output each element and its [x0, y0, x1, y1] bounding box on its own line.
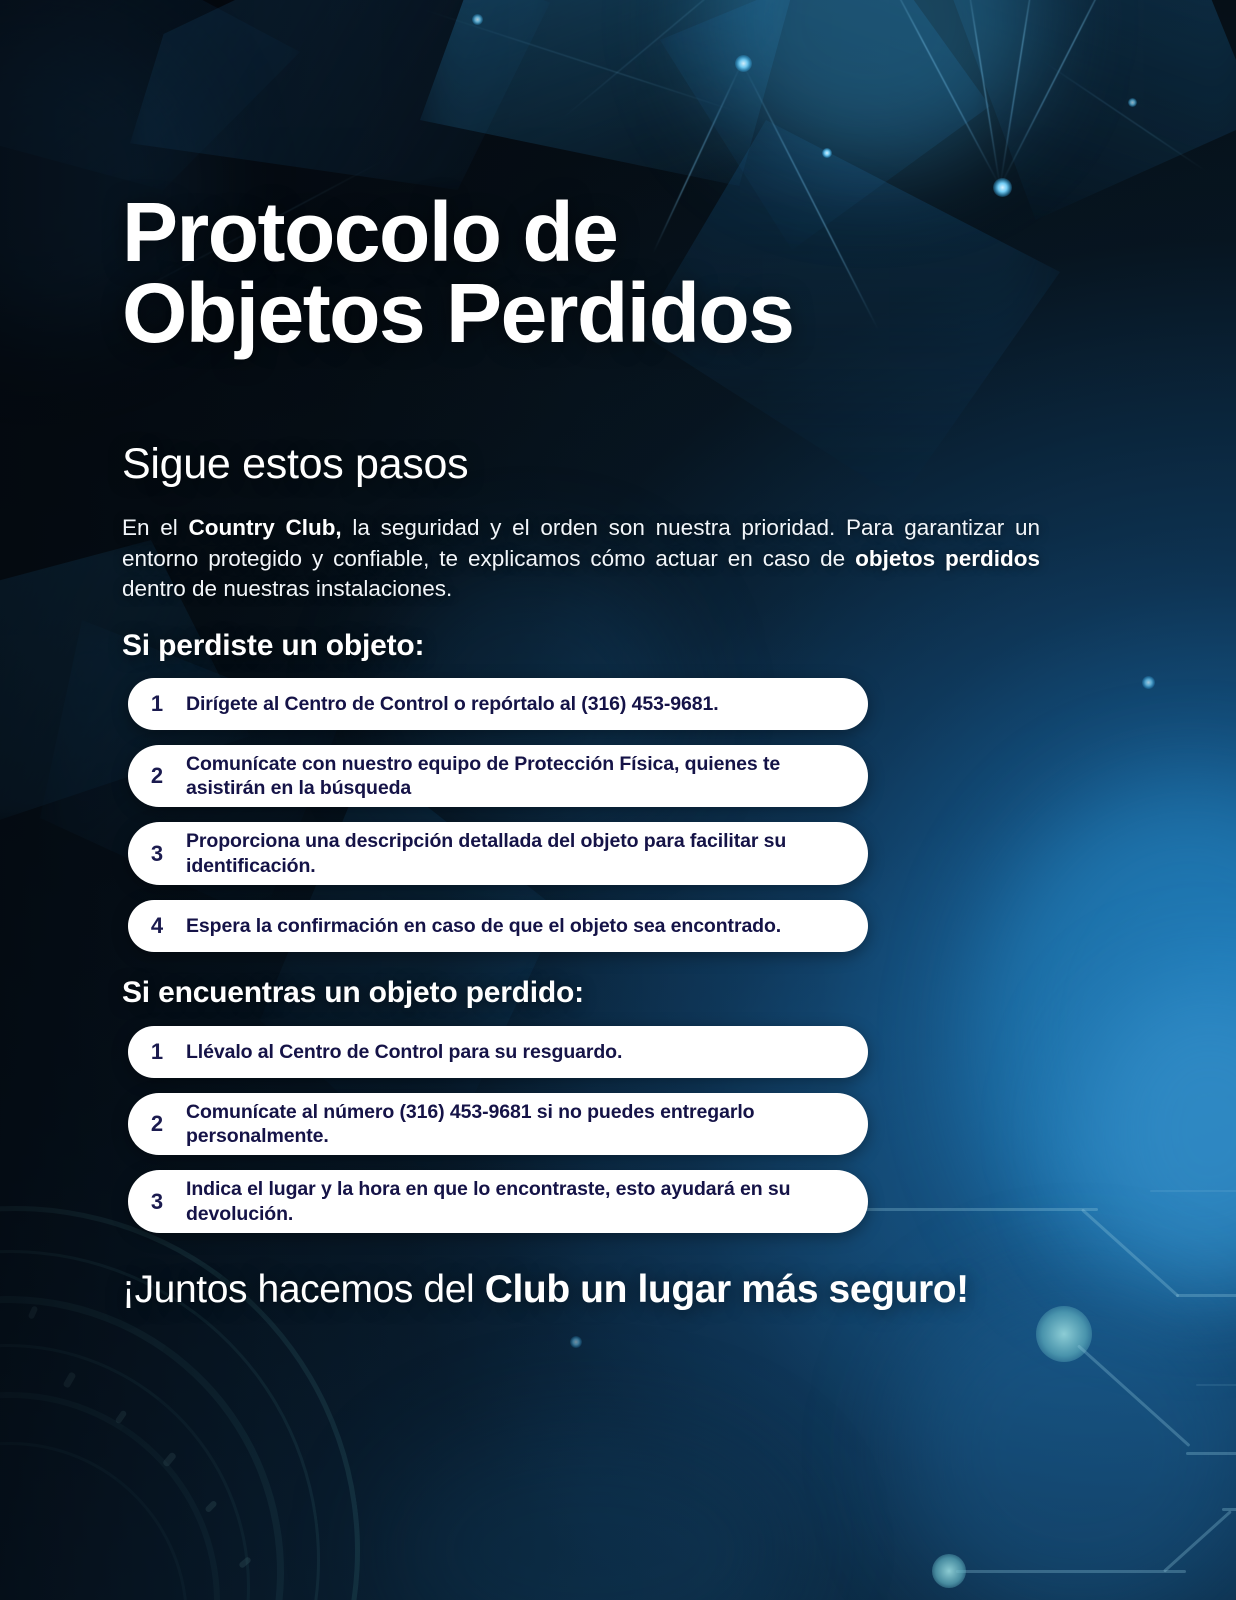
- step-item[interactable]: 1 Dirígete al Centro de Control o repórt…: [128, 678, 868, 730]
- intro-bold-country-club: Country Club,: [188, 515, 341, 540]
- step-number: 3: [128, 1191, 186, 1213]
- intro-bold-objetos-perdidos: objetos perdidos: [855, 546, 1040, 571]
- page-title: Protocolo de Objetos Perdidos: [122, 192, 1042, 355]
- step-text: Espera la confirmación en caso de que el…: [186, 914, 842, 938]
- step-number: 4: [128, 915, 186, 937]
- step-text: Indica el lugar y la hora en que lo enco…: [186, 1177, 842, 1225]
- step-item[interactable]: 4 Espera la confirmación en caso de que …: [128, 900, 868, 952]
- step-number: 1: [128, 693, 186, 715]
- step-item[interactable]: 1 Llévalo al Centro de Control para su r…: [128, 1026, 868, 1078]
- intro-part-3: dentro de nuestras instalaciones.: [122, 576, 452, 601]
- step-item[interactable]: 3 Proporciona una descripción detallada …: [128, 822, 868, 884]
- closing-line: ¡Juntos hacemos del Club un lugar más se…: [122, 1268, 969, 1312]
- step-item[interactable]: 3 Indica el lugar y la hora en que lo en…: [128, 1170, 868, 1232]
- step-text: Llévalo al Centro de Control para su res…: [186, 1040, 842, 1064]
- step-text: Proporciona una descripción detallada de…: [186, 829, 842, 877]
- poster-canvas: Protocolo de Objetos Perdidos Sigue esto…: [0, 0, 1236, 1600]
- section-heading-lost: Si perdiste un objeto:: [122, 629, 424, 663]
- closing-bold: Club un lugar más seguro!: [485, 1268, 969, 1311]
- steps-list-lost: 1 Dirígete al Centro de Control o repórt…: [128, 678, 868, 967]
- step-text: Dirígete al Centro de Control o repórtal…: [186, 692, 842, 716]
- section-heading-found: Si encuentras un objeto perdido:: [122, 976, 584, 1010]
- title-line-1: Protocolo de: [122, 185, 617, 279]
- title-line-2: Objetos Perdidos: [122, 273, 1042, 354]
- step-number: 1: [128, 1041, 186, 1063]
- step-number: 3: [128, 843, 186, 865]
- closing-light: ¡Juntos hacemos del: [122, 1268, 485, 1311]
- step-item[interactable]: 2 Comunícate al número (316) 453-9681 si…: [128, 1093, 868, 1155]
- intro-part-1: En el: [122, 515, 188, 540]
- page-subtitle: Sigue estos pasos: [122, 440, 468, 489]
- step-item[interactable]: 2 Comunícate con nuestro equipo de Prote…: [128, 745, 868, 807]
- step-number: 2: [128, 1113, 186, 1135]
- step-text: Comunícate con nuestro equipo de Protecc…: [186, 752, 842, 800]
- step-text: Comunícate al número (316) 453-9681 si n…: [186, 1100, 842, 1148]
- steps-list-found: 1 Llévalo al Centro de Control para su r…: [128, 1026, 868, 1248]
- intro-paragraph: En el Country Club, la seguridad y el or…: [122, 513, 1040, 605]
- step-number: 2: [128, 765, 186, 787]
